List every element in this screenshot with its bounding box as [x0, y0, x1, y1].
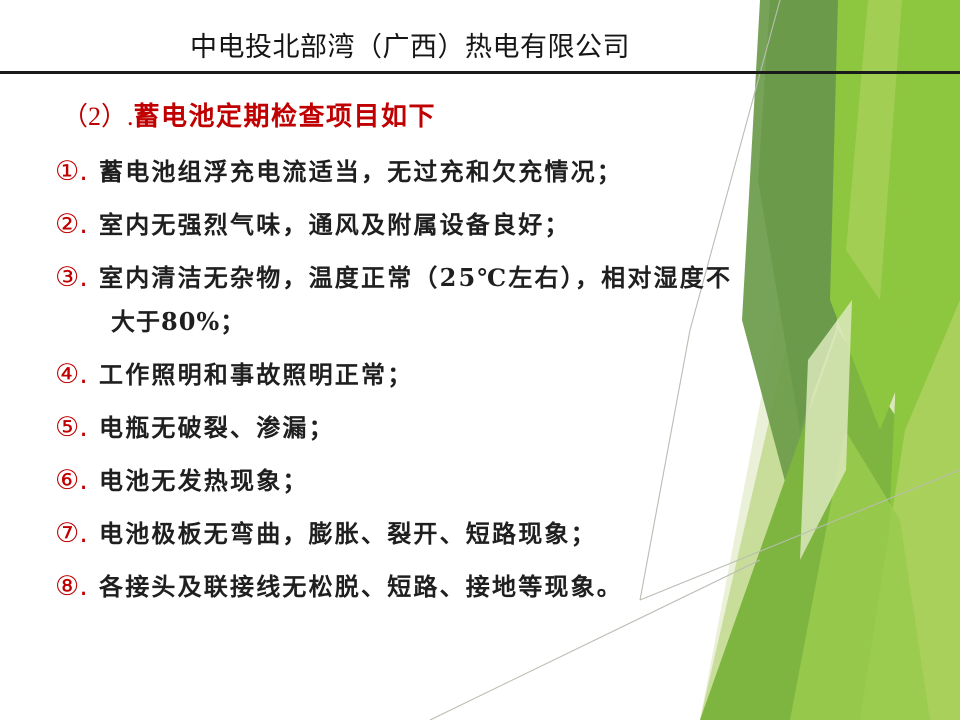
company-title: 中电投北部湾（广西）热电有限公司 — [0, 30, 820, 64]
slide-header: 中电投北部湾（广西）热电有限公司 — [0, 0, 960, 74]
header-divider-rule — [0, 71, 960, 74]
list-item-marker-6: ⑥. — [55, 459, 99, 503]
list-item-text-4: 工作照明和事故照明正常； — [99, 353, 889, 397]
list-item: ⑥. 电池无发热现象； — [55, 459, 915, 503]
list-item-text-7: 电池极板无弯曲，膨胀、裂开、短路现象； — [99, 512, 889, 556]
list-item-marker-3: ③. — [55, 256, 99, 300]
list-item: ⑧. 各接头及联接线无松脱、短路、接地等现象。 — [55, 565, 915, 609]
presentation-slide: 中电投北部湾（广西）热电有限公司 （2）.蓄电池定期检查项目如下 ①. 蓄电池组… — [0, 0, 960, 720]
list-item-marker-1: ①. — [55, 150, 99, 194]
list-item-text-3: 室内清洁无杂物，温度正常（25℃左右），相对湿度不 大于80%； — [99, 256, 889, 344]
section-heading-text: 蓄电池定期检查项目如下 — [134, 102, 437, 132]
list-item-marker-4: ④. — [55, 353, 99, 397]
list-item-text-5: 电瓶无破裂、渗漏； — [99, 406, 889, 450]
list-item-text-3-line2: 大于80%； — [111, 300, 889, 344]
list-item-text-3-line1: 室内清洁无杂物，温度正常（25℃左右），相对湿度不 — [99, 263, 732, 292]
list-item-marker-2: ②. — [55, 203, 99, 247]
section-heading: （2）.蓄电池定期检查项目如下 — [62, 100, 915, 134]
list-item-text-6: 电池无发热现象； — [99, 459, 889, 503]
section-number: （2）. — [62, 102, 134, 131]
list-item: ⑤. 电瓶无破裂、渗漏； — [55, 406, 915, 450]
list-item-text-2: 室内无强烈气味，通风及附属设备良好； — [99, 203, 889, 247]
list-item-text-1: 蓄电池组浮充电流适当，无过充和欠充情况； — [99, 150, 889, 194]
list-item-marker-8: ⑧. — [55, 565, 99, 609]
list-item-marker-5: ⑤. — [55, 406, 99, 450]
list-item: ⑦. 电池极板无弯曲，膨胀、裂开、短路现象； — [55, 512, 915, 556]
list-item: ②. 室内无强烈气味，通风及附属设备良好； — [55, 203, 915, 247]
list-item: ④. 工作照明和事故照明正常； — [55, 353, 915, 397]
slide-body: （2）.蓄电池定期检查项目如下 ①. 蓄电池组浮充电流适当，无过充和欠充情况； … — [55, 100, 915, 618]
list-item-marker-7: ⑦. — [55, 512, 99, 556]
list-item: ①. 蓄电池组浮充电流适当，无过充和欠充情况； — [55, 150, 915, 194]
list-item-text-8: 各接头及联接线无松脱、短路、接地等现象。 — [99, 565, 889, 609]
list-item: ③. 室内清洁无杂物，温度正常（25℃左右），相对湿度不 大于80%； — [55, 256, 915, 344]
